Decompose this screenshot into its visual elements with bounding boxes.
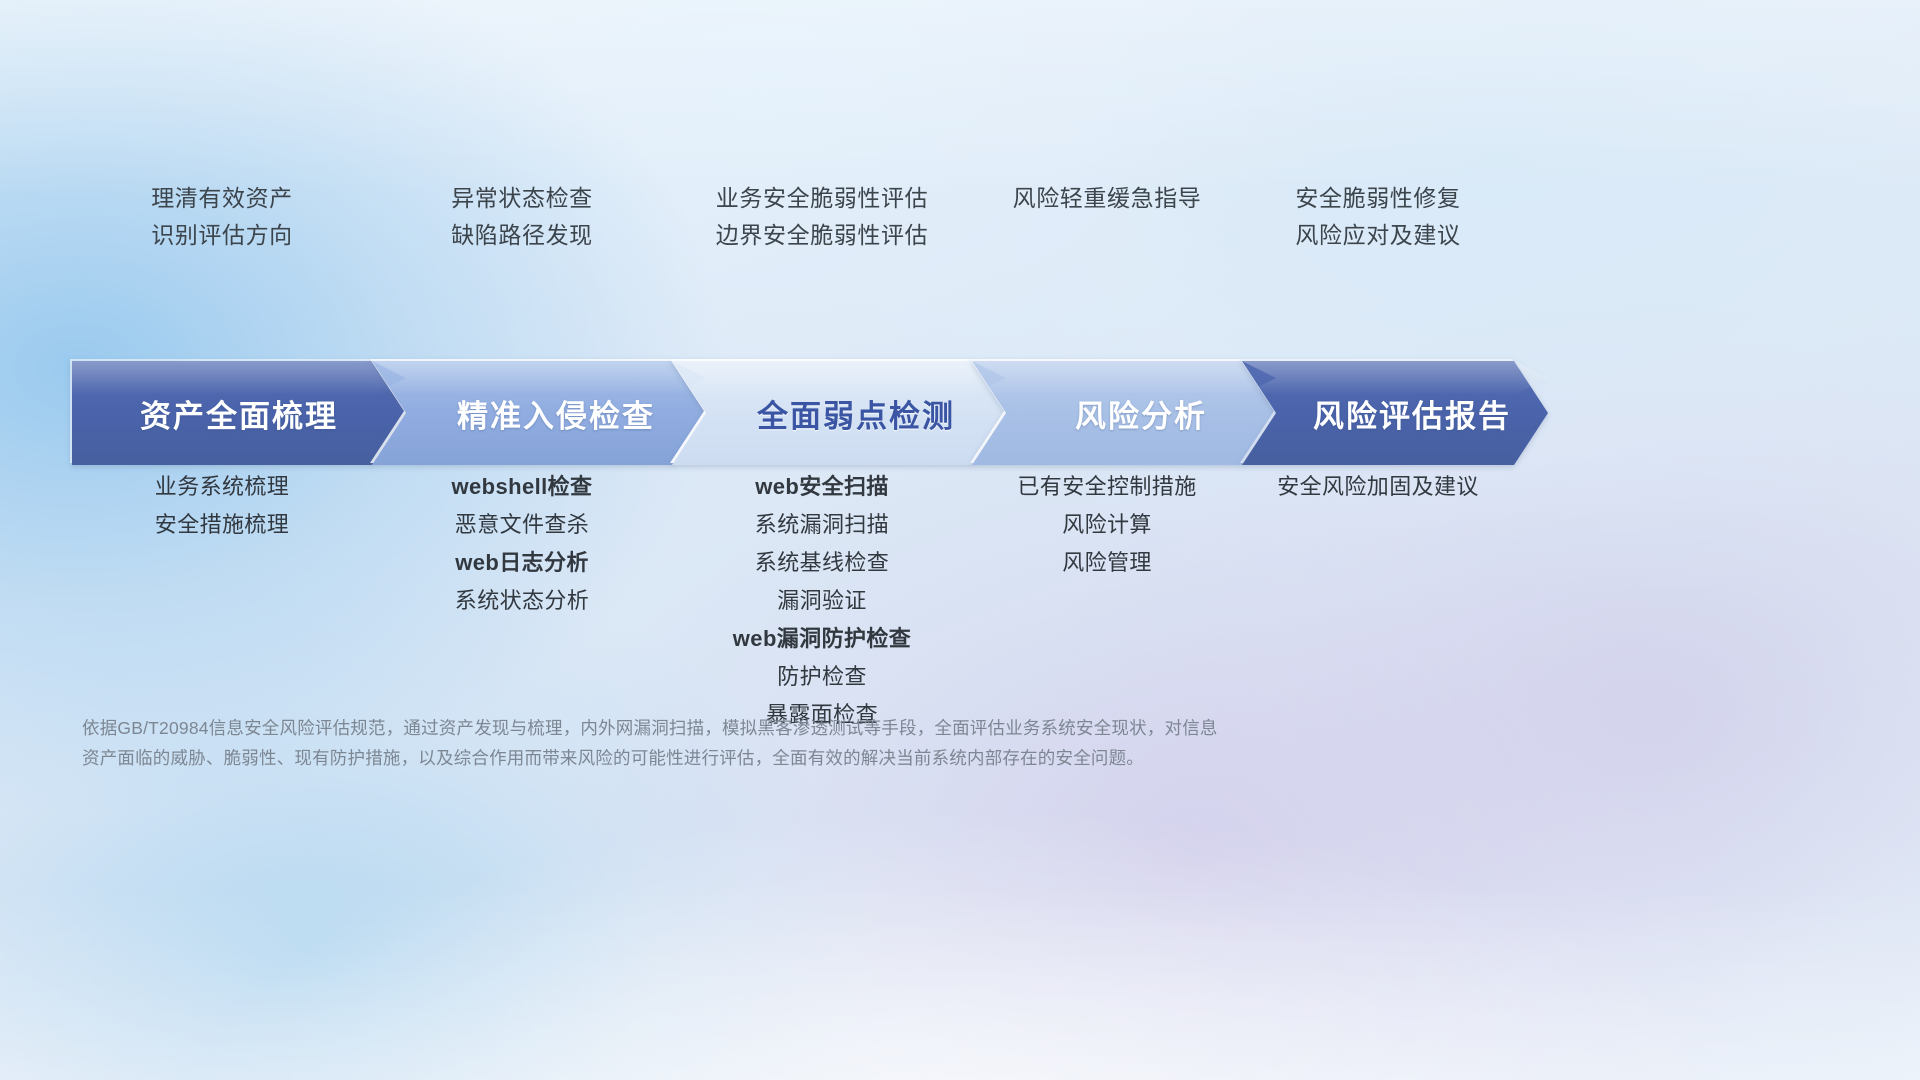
- bottom-point: web日志分析: [455, 548, 589, 577]
- chevron-label: 全面弱点检测: [672, 391, 1006, 436]
- stage-chevron-risk-analysis[interactable]: 风险分析: [972, 361, 1276, 465]
- top-point: 边界安全脆弱性评估: [716, 223, 928, 248]
- bottom-points-row: 业务系统梳理安全措施梳理webshell检查恶意文件查杀web日志分析系统状态分…: [0, 472, 1920, 732]
- bottom-point: 安全风险加固及建议: [1277, 472, 1479, 501]
- bottom-point: 风险管理: [1062, 548, 1152, 577]
- bottom-points-risk-report: 安全风险加固及建议: [1178, 472, 1578, 501]
- bottom-point: web漏洞防护检查: [733, 624, 911, 653]
- top-point: 识别评估方向: [151, 223, 293, 248]
- bottom-point: 系统基线检查: [755, 548, 889, 577]
- bottom-point: 漏洞验证: [777, 586, 867, 615]
- top-point: 业务安全脆弱性评估: [716, 186, 928, 211]
- chevron-label: 风险分析: [972, 391, 1276, 436]
- footer-description: 依据GB/T20984信息安全风险评估规范，通过资产发现与梳理，内外网漏洞扫描，…: [82, 714, 1342, 774]
- bottom-point: 系统漏洞扫描: [755, 510, 889, 539]
- chevron-label: 资产全面梳理: [72, 391, 406, 436]
- bottom-point: 恶意文件查杀: [455, 510, 589, 539]
- footer-line-2: 资产面临的威胁、脆弱性、现有防护措施，以及综合作用而带来风险的可能性进行评估，全…: [82, 744, 1342, 774]
- bottom-point: 风险计算: [1062, 510, 1152, 539]
- top-point: 风险应对及建议: [1295, 223, 1460, 248]
- bottom-point: 系统状态分析: [455, 586, 589, 615]
- bottom-point: 防护检查: [777, 662, 867, 691]
- top-point: 安全脆弱性修复: [1295, 186, 1460, 211]
- bottom-point: web安全扫描: [755, 472, 889, 501]
- footer-line-1: 依据GB/T20984信息安全风险评估规范，通过资产发现与梳理，内外网漏洞扫描，…: [82, 714, 1342, 744]
- top-points-risk-report: 安全脆弱性修复风险应对及建议: [1178, 186, 1578, 249]
- top-point: 风险轻重缓急指导: [1013, 186, 1202, 211]
- top-point: 理清有效资产: [151, 186, 293, 211]
- chevron-label: 精准入侵检查: [372, 391, 706, 436]
- bottom-point: 业务系统梳理: [155, 472, 289, 501]
- top-point: 异常状态检查: [451, 186, 593, 211]
- bottom-point: 安全措施梳理: [155, 510, 289, 539]
- bottom-point: 已有安全控制措施: [1017, 472, 1196, 501]
- top-point: 缺陷路径发现: [451, 223, 593, 248]
- stage-chevron-risk-report[interactable]: 风险评估报告: [1242, 361, 1548, 465]
- stage-chevron-weakness-detection[interactable]: 全面弱点检测: [672, 361, 1006, 465]
- stage-chevron-asset-inventory[interactable]: 资产全面梳理: [72, 361, 406, 465]
- chevron-label: 风险评估报告: [1242, 391, 1548, 436]
- top-points-row: 理清有效资产识别评估方向异常状态检查缺陷路径发现业务安全脆弱性评估边界安全脆弱性…: [0, 186, 1920, 296]
- stage-chevron-band: 资产全面梳理精准入侵检查全面弱点检测风险分析风险评估报告: [72, 361, 1514, 465]
- stage-chevron-intrusion-check[interactable]: 精准入侵检查: [372, 361, 706, 465]
- process-infographic: 理清有效资产识别评估方向异常状态检查缺陷路径发现业务安全脆弱性评估边界安全脆弱性…: [0, 0, 1920, 1080]
- bottom-point: webshell检查: [452, 472, 593, 501]
